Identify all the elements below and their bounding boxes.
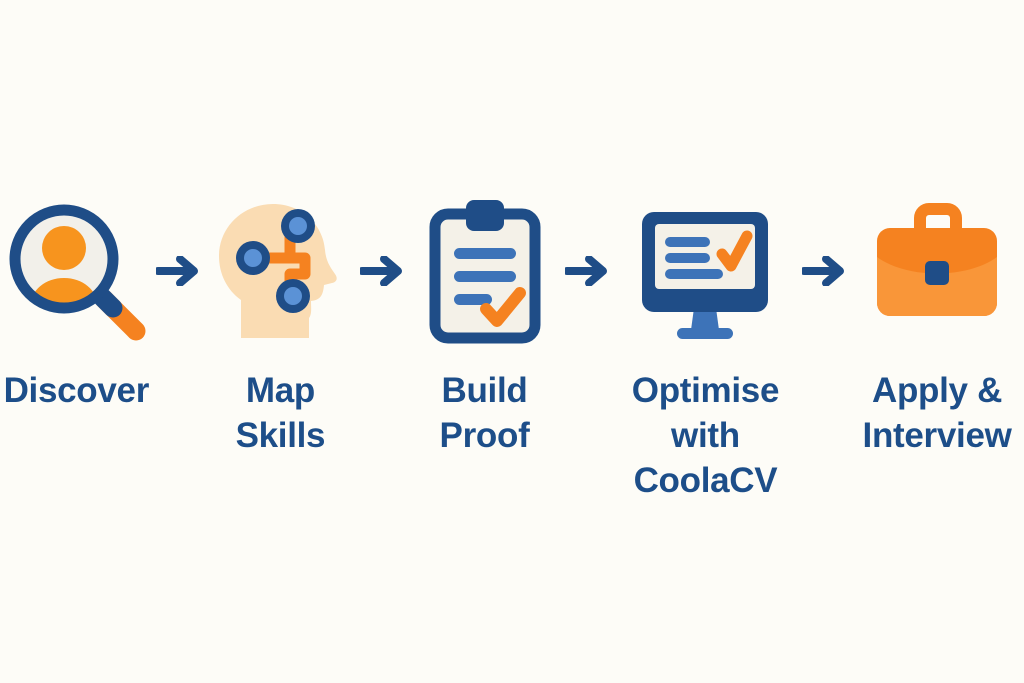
flow-step-label: Build Proof [440, 368, 530, 458]
flow-step-label: Optimise with CoolaCV [612, 368, 798, 503]
flow-step-map-skills[interactable]: Map Skills [204, 196, 357, 458]
arrow-right-icon [357, 196, 408, 346]
flow-step-label: Apply & Interview [863, 368, 1012, 458]
clipboard-check-icon [410, 196, 560, 346]
head-network-icon [205, 196, 355, 346]
flow-step-label: Map Skills [236, 368, 326, 458]
flow-step-discover[interactable]: Discover [0, 196, 153, 413]
flow-steps-row: Discover [0, 196, 1024, 503]
process-flow-diagram: Discover [0, 0, 1024, 683]
flow-step-apply-interview[interactable]: Apply & Interview [850, 196, 1024, 458]
flow-step-optimise[interactable]: Optimise with CoolaCV [612, 196, 798, 503]
briefcase-icon [862, 196, 1012, 346]
magnifier-person-icon [1, 196, 151, 346]
flow-step-build-proof[interactable]: Build Proof [408, 196, 561, 458]
arrow-right-icon [799, 196, 850, 346]
arrow-right-icon [153, 196, 204, 346]
monitor-check-icon [630, 196, 780, 346]
flow-step-label: Discover [4, 368, 149, 413]
arrow-right-icon [561, 196, 612, 346]
